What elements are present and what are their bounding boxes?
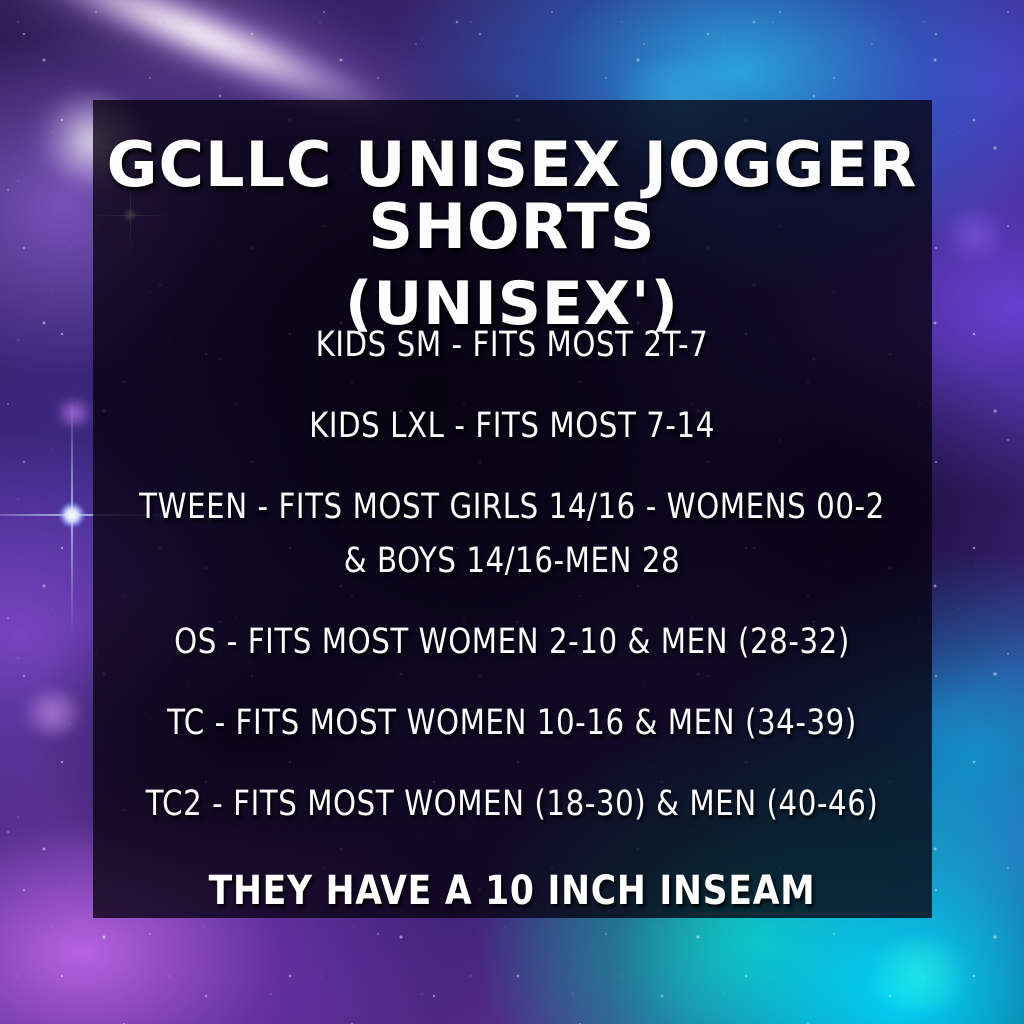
page-title: GCLLC UNISEX JOGGER SHORTS (UNISEX') <box>0 134 1024 334</box>
list-item: KIDS LXL - FITS MOST 7-14 <box>36 406 988 446</box>
title-line-1: GCLLC UNISEX JOGGER SHORTS <box>107 128 918 263</box>
list-item: OS - FITS MOST WOMEN 2-10 & MEN (28-32) <box>36 622 988 662</box>
list-item: TC - FITS MOST WOMEN 10-16 & MEN (34-39) <box>36 703 988 743</box>
inseam-note: THEY HAVE A 10 INCH INSEAM <box>20 868 1003 914</box>
list-item: KIDS SM - FITS MOST 2T-7 <box>36 325 988 365</box>
list-item: TC2 - FITS MOST WOMEN (18-30) & MEN (40-… <box>36 784 988 824</box>
size-list: KIDS SM - FITS MOST 2T-7 KIDS LXL - FITS… <box>0 325 1024 914</box>
size-chart-poster: GCLLC UNISEX JOGGER SHORTS (UNISEX') KID… <box>0 0 1024 1024</box>
poster-content: GCLLC UNISEX JOGGER SHORTS (UNISEX') KID… <box>0 0 1024 1024</box>
list-item: & BOYS 14/16-MEN 28 <box>36 541 988 581</box>
list-item: TWEEN - FITS MOST GIRLS 14/16 - WOMENS 0… <box>36 487 988 527</box>
